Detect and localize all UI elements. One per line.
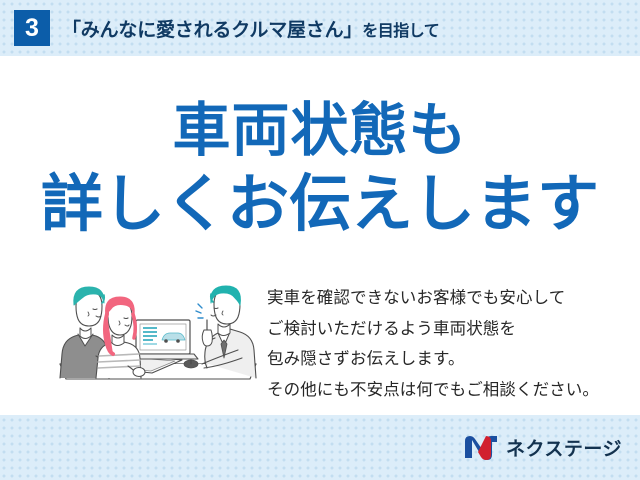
consultation-illustration-graphic: [52, 278, 264, 390]
body-copy-line-4: その他にも不安点は何でもご相談ください。: [267, 375, 617, 406]
header-title: 「みんなに愛されるクルマ屋さん」を目指して: [62, 15, 439, 42]
body-copy: 実車を確認できないお客様でも安心して ご検討いただけるよう車両状態を 包み隠さず…: [267, 283, 617, 405]
brand-name: ネクステージ: [506, 434, 622, 461]
step-number-badge: 3: [14, 10, 50, 46]
nextage-n-logo-icon: [464, 434, 498, 460]
body-copy-line-2: ご検討いただけるよう車両状態を: [267, 314, 617, 345]
banner-footer: ネクステージ: [0, 415, 640, 480]
headline: 車両状態も 詳しくお伝えします: [0, 102, 640, 236]
banner-header: 3 「みんなに愛されるクルマ屋さん」を目指して: [0, 0, 640, 56]
content-card: 車両状態も 詳しくお伝えします: [0, 56, 640, 415]
consultation-illustration: [52, 278, 264, 390]
body-copy-line-1: 実車を確認できないお客様でも安心して: [267, 283, 617, 314]
headline-line-2: 詳しくお伝えします: [0, 174, 640, 236]
header-title-suffix: を目指して: [362, 23, 439, 40]
headline-line-1: 車両状態も: [0, 102, 640, 160]
body-copy-line-3: 包み隠さずお伝えします。: [267, 344, 617, 375]
brand-lockup: ネクステージ: [464, 432, 622, 462]
promotional-banner: 3 「みんなに愛されるクルマ屋さん」を目指して 車両状態も 詳しくお伝えします: [0, 0, 640, 480]
header-title-main: 「みんなに愛されるクルマ屋さん」: [62, 20, 362, 41]
